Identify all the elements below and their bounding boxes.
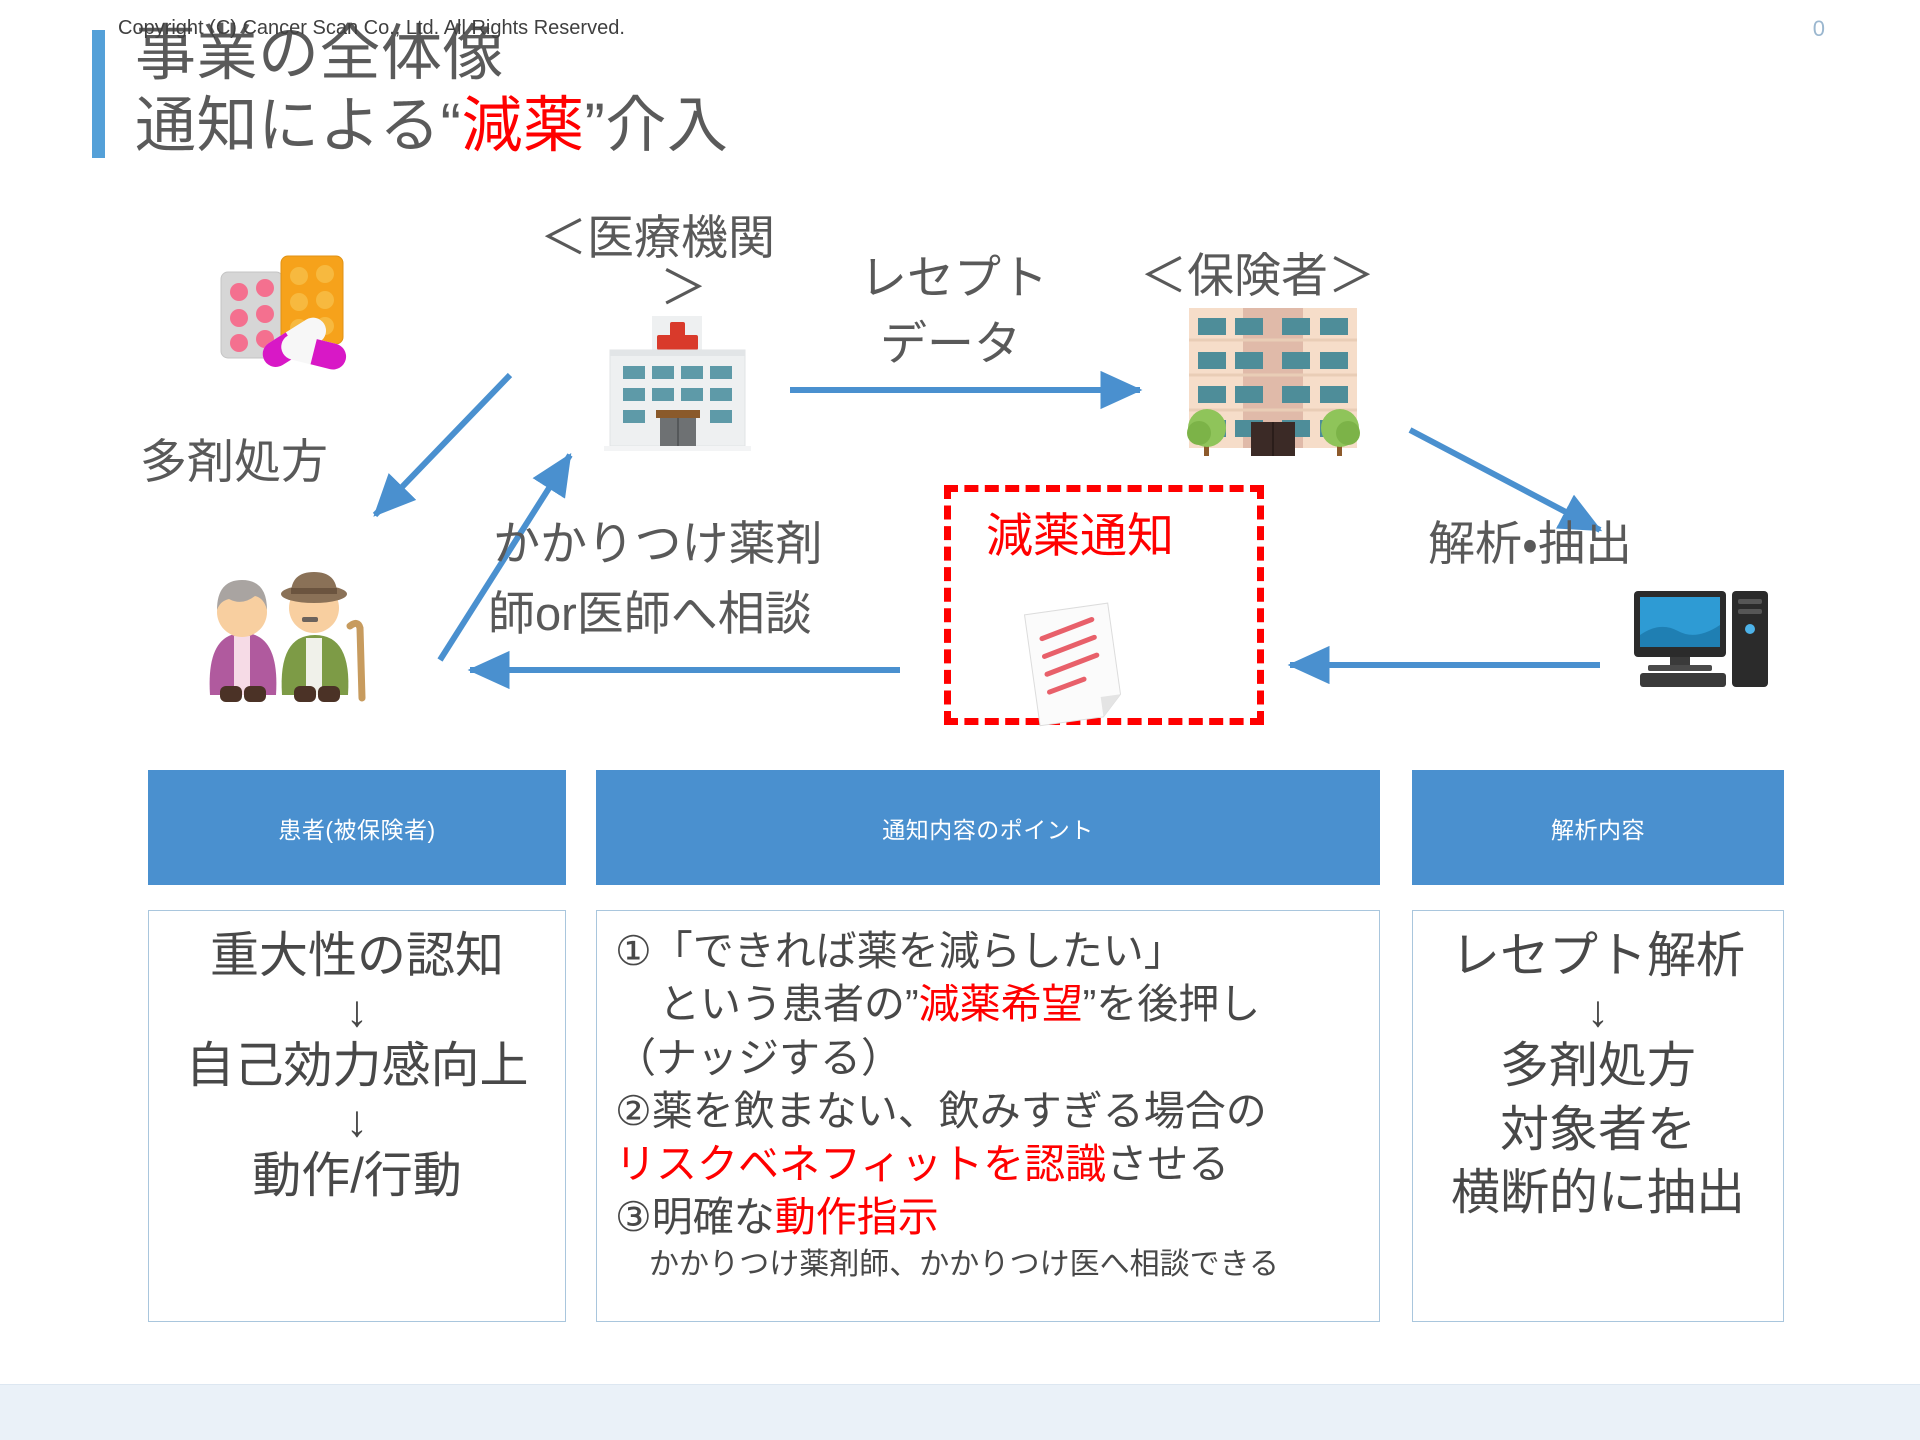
notice-point-1-line-2-prefix: という患者の” <box>659 981 919 1027</box>
patient-arrow-1: ↓ <box>167 989 547 1035</box>
column-body-notice-points-content: ①「できれば薬を減らしたい」 という患者の”減薬希望”を後押し （ナッジする） … <box>597 911 1379 1298</box>
label-consult-line1: かかりつけ薬剤 <box>493 518 822 571</box>
analysis-line-1: レセプト解析 <box>1431 925 1765 989</box>
label-medical-institution-line1: ＜医療機関 <box>540 212 775 265</box>
analysis-line-3: 対象者を <box>1431 1099 1765 1163</box>
notice-point-2-line-1: ②薬を飲まない、飲みすぎる場合の <box>615 1085 1361 1138</box>
label-receipt-data-line2: データ <box>880 318 1021 371</box>
column-header-notice-points-label: 通知内容のポイント <box>882 811 1094 845</box>
pill-blister-pack-icon <box>215 250 365 370</box>
notice-point-2-line-2: リスクベネフィットを認識させる <box>615 1138 1361 1191</box>
label-reduction-notice: 減薬通知 <box>986 510 1174 563</box>
patient-line-2: 自己効力感向上 <box>167 1035 547 1099</box>
arrow-insurer-to-analysis <box>1410 430 1600 530</box>
column-body-patient: 重大性の認知 ↓ 自己効力感向上 ↓ 動作/行動 <box>148 910 566 1322</box>
column-body-analysis: レセプト解析 ↓ 多剤処方 対象者を 横断的に抽出 <box>1412 910 1784 1322</box>
notice-point-1-line-2-suffix: ”を後押し <box>1083 981 1261 1027</box>
hospital-icon <box>590 310 765 460</box>
column-header-patient-label: 患者(被保険者) <box>278 811 435 845</box>
column-body-notice-points: ①「できれば薬を減らしたい」 という患者の”減薬希望”を後押し （ナッジする） … <box>596 910 1380 1322</box>
label-analysis-extract: 解析・抽出 <box>1428 518 1632 571</box>
office-building-icon <box>1165 300 1380 480</box>
analysis-line-4: 横断的に抽出 <box>1431 1162 1765 1226</box>
notice-document-icon <box>1010 600 1145 730</box>
notice-point-1-line-1: ①「できれば薬を減らしたい」 <box>615 925 1361 978</box>
column-header-patient: 患者(被保険者) <box>148 770 566 885</box>
notice-point-3-highlight: 動作指示 <box>775 1194 939 1240</box>
column-header-notice-points: 通知内容のポイント <box>596 770 1380 885</box>
slide-canvas: 事業の全体像 通知による“減薬”介入 <box>0 0 1920 1440</box>
label-consult-line2: 師or医師へ相談 <box>488 588 812 641</box>
desktop-computer-icon <box>1630 585 1775 695</box>
page-number: 0 <box>1813 16 1825 42</box>
notice-point-1-line-3: （ナッジする） <box>615 1032 1361 1085</box>
slide-footer <box>0 1384 1920 1440</box>
notice-point-1-line-2: という患者の”減薬希望”を後押し <box>615 978 1361 1031</box>
notice-point-2-line-2-suffix: させる <box>1106 1141 1229 1187</box>
label-receipt-data-line1: レセプト <box>860 252 1048 305</box>
notice-point-1-highlight: 減薬希望 <box>919 981 1083 1027</box>
column-body-patient-content: 重大性の認知 ↓ 自己効力感向上 ↓ 動作/行動 <box>149 911 565 1222</box>
column-header-analysis-label: 解析内容 <box>1551 811 1645 845</box>
elderly-couple-icon <box>190 520 375 705</box>
arrow-hospital-to-patient <box>375 375 510 515</box>
patient-line-1: 重大性の認知 <box>167 925 547 989</box>
patient-arrow-2: ↓ <box>167 1099 547 1145</box>
copyright-text: Copyright (C) Cancer Scan Co., Ltd. All … <box>118 17 625 40</box>
patient-line-3: 動作/行動 <box>167 1145 547 1209</box>
notice-point-3: ③明確な動作指示 <box>615 1191 1361 1244</box>
column-body-analysis-content: レセプト解析 ↓ 多剤処方 対象者を 横断的に抽出 <box>1413 911 1783 1240</box>
column-header-analysis: 解析内容 <box>1412 770 1784 885</box>
label-medical-institution-line2: ＞ <box>660 262 707 315</box>
label-insurer: ＜保険者＞ <box>1140 250 1375 303</box>
label-polypharmacy: 多剤処方 <box>140 436 328 489</box>
analysis-line-2: 多剤処方 <box>1431 1035 1765 1099</box>
notice-point-3-prefix: ③明確な <box>615 1194 775 1240</box>
notice-point-3-subtext: かかりつけ薬剤師、かかりつけ医へ相談できる <box>615 1245 1361 1284</box>
analysis-arrow-1: ↓ <box>1431 989 1765 1035</box>
notice-point-2-highlight: リスクベネフィットを認識 <box>615 1141 1106 1187</box>
